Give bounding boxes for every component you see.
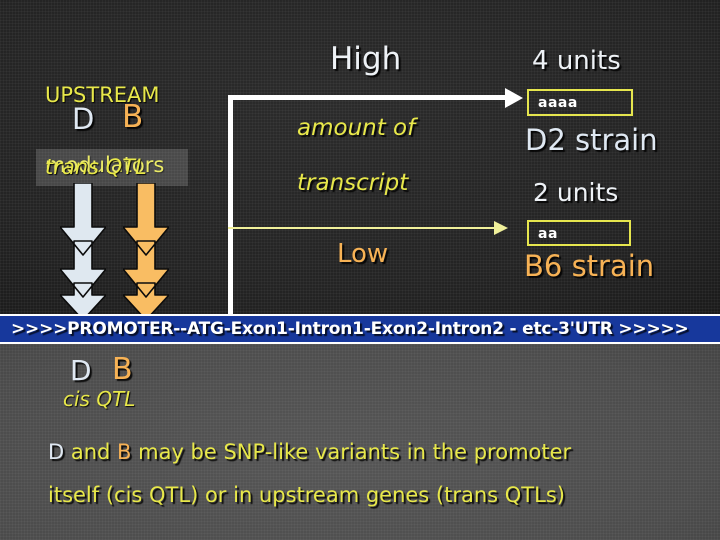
gene-structure-text: >>>>PROMOTER--ATG-Exon1-Intron1-Exon2-In… bbox=[11, 319, 689, 339]
upstream-allele-d: D bbox=[72, 105, 94, 134]
label-high: High bbox=[330, 44, 401, 75]
d2-units-word: units bbox=[557, 46, 621, 76]
gene-structure-bar: >>>>PROMOTER--ATG-Exon1-Intron1-Exon2-In… bbox=[0, 314, 720, 344]
b6-units-word: units bbox=[557, 178, 618, 207]
down-arrow-b-icon bbox=[123, 183, 169, 324]
cis-qtl-label: cis QTL bbox=[63, 389, 135, 409]
label-amount-of: amount of bbox=[297, 117, 415, 140]
cis-allele-b: B bbox=[112, 355, 133, 385]
strain-name-b6: B6 strain bbox=[524, 252, 654, 281]
high-expression-arrow-shaft bbox=[228, 95, 508, 100]
genotype-label-b6: aa bbox=[538, 226, 558, 242]
low-expression-arrow-shaft bbox=[228, 227, 496, 229]
trans-qtl-label: trans QTL bbox=[45, 157, 147, 178]
strain-name-d2: D2 strain bbox=[525, 126, 658, 155]
b6-units: 2 units bbox=[533, 180, 618, 205]
upstream-line-1: UPSTREAM bbox=[45, 85, 164, 106]
down-arrow-d-icon bbox=[60, 183, 106, 324]
caption-and: and bbox=[64, 440, 117, 464]
genotype-label-d2: aaaa bbox=[538, 95, 578, 111]
cis-allele-d: D bbox=[70, 357, 92, 385]
caption-rest-1: may be SNP-like variants in the promoter bbox=[131, 440, 571, 464]
high-expression-arrowhead-icon bbox=[505, 88, 523, 108]
upstream-allele-b: B bbox=[122, 102, 143, 133]
b6-units-number: 2 bbox=[533, 178, 549, 207]
d2-units: 4 units bbox=[532, 48, 621, 74]
axis-vertical-line bbox=[228, 95, 233, 320]
slide-canvas: UPSTREAM modulators D B trans QTL High L… bbox=[0, 0, 720, 540]
low-expression-arrowhead-icon bbox=[494, 221, 508, 235]
d2-units-number: 4 bbox=[532, 46, 549, 76]
label-low: Low bbox=[337, 241, 388, 267]
caption-line-2: itself (cis QTL) or in upstream genes (t… bbox=[48, 483, 565, 507]
caption-allele-d: D bbox=[48, 440, 64, 464]
label-transcript: transcript bbox=[297, 172, 408, 195]
caption-allele-b: B bbox=[117, 440, 131, 464]
caption-line-1: D and B may be SNP-like variants in the … bbox=[48, 440, 571, 464]
